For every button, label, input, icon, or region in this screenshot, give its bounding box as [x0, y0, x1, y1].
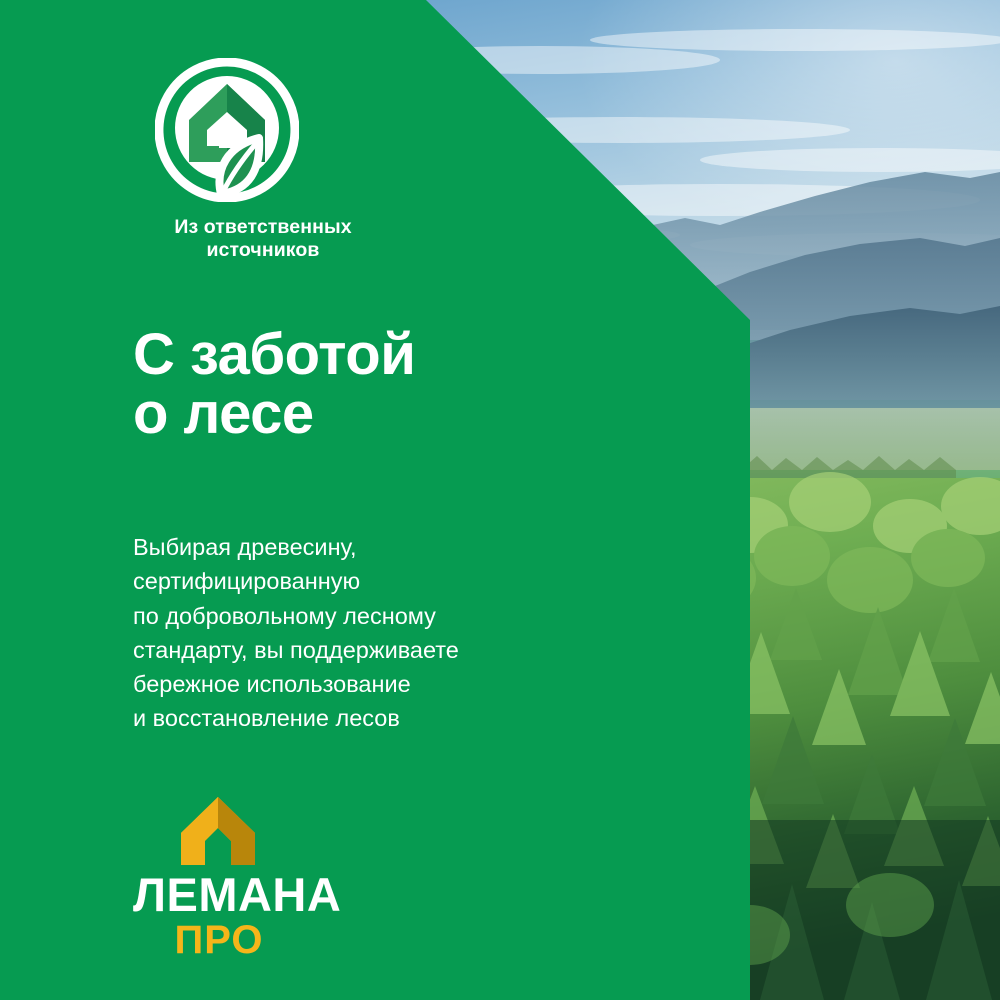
lemana-house-icon [179, 795, 257, 867]
body-line-6: и восстановление лесов [133, 701, 459, 735]
lemana-pro-logo: ЛЕМАНА ПРО [133, 795, 341, 960]
badge-caption-line-2: источников [133, 239, 393, 262]
body-copy: Выбирая древесину, сертифицированную по … [133, 530, 459, 736]
body-line-1: Выбирая древесину, [133, 530, 459, 564]
brand-sub: ПРО [133, 920, 305, 960]
body-line-2: сертифицированную [133, 564, 459, 598]
house-with-leaf-in-circle-logo [155, 58, 299, 202]
brand-name: ЛЕМАНА [133, 871, 341, 918]
promo-poster: Из ответственных источников С заботой о … [0, 0, 1000, 1000]
headline-line-1: С заботой [133, 325, 415, 384]
badge-caption-line-1: Из ответственных [133, 216, 393, 239]
responsible-sources-badge: Из ответственных источников [133, 58, 393, 262]
body-line-4: стандарту, вы поддерживаете [133, 633, 459, 667]
badge-caption: Из ответственных источников [133, 216, 393, 262]
body-line-3: по добровольному лесному [133, 599, 459, 633]
headline-line-2: о лесе [133, 384, 415, 443]
body-line-5: бережное использование [133, 667, 459, 701]
headline: С заботой о лесе [133, 325, 415, 443]
